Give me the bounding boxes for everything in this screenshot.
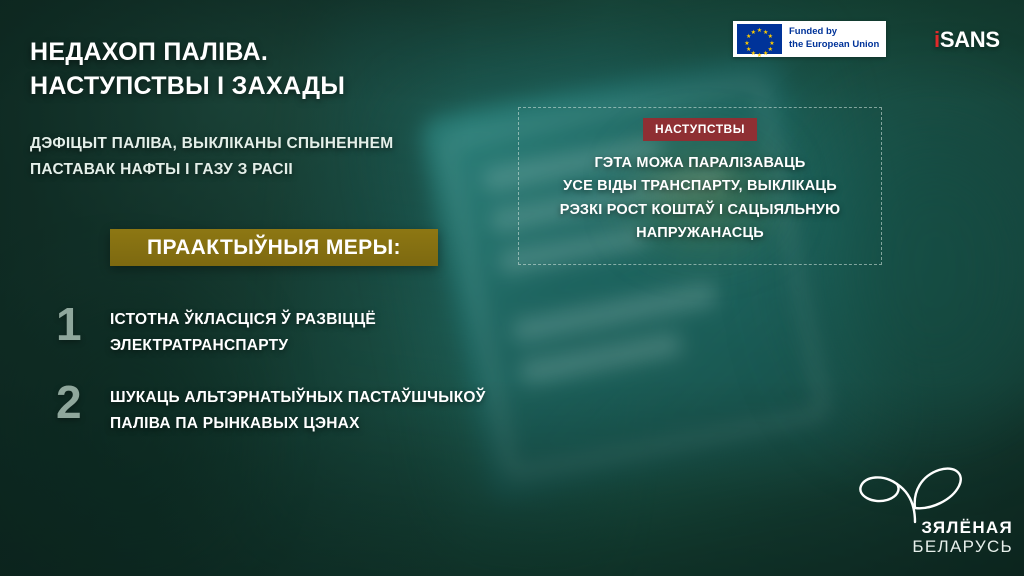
status-badge: НАСТУПСТВЫ: [643, 118, 757, 141]
list-item: 1 ІСТОТНА ЎКЛАСЦІСЯ Ў РАЗВІЦЦЁ ЭЛЕКТРАТР…: [56, 303, 526, 359]
consequences-box: НАСТУПСТВЫ ГЭТА МОЖА ПАРАЛІЗАВАЦЬ УСЕ ВІ…: [518, 107, 882, 265]
eu-star-icon: ★: [744, 41, 750, 47]
sprout-icon: [853, 462, 971, 524]
eu-star-icon: ★: [750, 30, 756, 36]
consequences-text-line-3: РЭЗКІ РОСТ КОШТАЎ І САЦЫЯЛЬНУЮ: [533, 199, 867, 222]
green-belarus-logo-text: ЗЯЛЁНАЯ БЕЛАРУСЬ: [889, 518, 1013, 556]
consequences-text-line-4: НАПРУЖАНАСЦЬ: [533, 222, 867, 245]
page-subtitle-line-1: ДЭФІЦЫТ ПАЛІВА, ВЫКЛІКАНЫ СПЫНЕННЕМ: [30, 131, 550, 157]
green-belarus-logo-line-1: ЗЯЛЁНАЯ: [889, 518, 1013, 537]
eu-funding-text: Funded by the European Union: [789, 26, 879, 51]
isans-logo: iSANS: [934, 27, 1000, 53]
list-item: 2 ШУКАЦЬ АЛЬТЭРНАТЫЎНЫХ ПАСТАЎШЧЫКОЎ ПАЛ…: [56, 381, 526, 437]
eu-star-icon: ★: [757, 53, 763, 59]
green-belarus-logo: ЗЯЛЁНАЯ БЕЛАРУСЬ: [853, 462, 1013, 558]
list-item-text-line-1: ІСТОТНА ЎКЛАСЦІСЯ Ў РАЗВІЦЦЁ: [110, 307, 376, 333]
isans-logo-name: SANS: [940, 27, 1000, 52]
eu-funding-text-line-2: the European Union: [789, 39, 879, 52]
page-subtitle: ДЭФІЦЫТ ПАЛІВА, ВЫКЛІКАНЫ СПЫНЕННЕМ ПАСТ…: [30, 131, 550, 182]
list-item-text-line-2: ПАЛІВА ПА РЫНКАВЫХ ЦЭНАХ: [110, 411, 486, 437]
list-item-text: ШУКАЦЬ АЛЬТЭРНАТЫЎНЫХ ПАСТАЎШЧЫКОЎ ПАЛІВ…: [110, 381, 486, 436]
page-title-line-2: НАСТУПСТВЫ І ЗАХАДЫ: [30, 70, 550, 104]
eu-star-icon: ★: [746, 47, 752, 53]
proactive-measures-banner: ПРААКТЫЎНЫЯ МЕРЫ:: [110, 229, 438, 266]
list-item-text-line-1: ШУКАЦЬ АЛЬТЭРНАТЫЎНЫХ ПАСТАЎШЧЫКОЎ: [110, 385, 486, 411]
page-subtitle-line-2: ПАСТАВАК НАФТЫ І ГАЗУ З РАСІІ: [30, 157, 550, 183]
consequences-text-line-2: УСЕ ВІДЫ ТРАНСПАРТУ, ВЫКЛІКАЦЬ: [533, 175, 867, 198]
measures-list: 1 ІСТОТНА ЎКЛАСЦІСЯ Ў РАЗВІЦЦЁ ЭЛЕКТРАТР…: [56, 303, 526, 459]
consequences-text-line-1: ГЭТА МОЖА ПАРАЛІЗАВАЦЬ: [533, 152, 867, 175]
consequences-text: ГЭТА МОЖА ПАРАЛІЗАВАЦЬ УСЕ ВІДЫ ТРАНСПАР…: [533, 152, 867, 246]
eu-funding-logo: ★ ★ ★ ★ ★ ★ ★ ★ ★ ★ ★ ★ Funded by the Eu…: [733, 21, 886, 57]
page-title: НЕДАХОП ПАЛІВА. НАСТУПСТВЫ І ЗАХАДЫ: [30, 36, 550, 103]
infographic-slide: НЕДАХОП ПАЛІВА. НАСТУПСТВЫ І ЗАХАДЫ ДЭФІ…: [0, 0, 1024, 576]
list-item-number: 2: [56, 381, 110, 423]
eu-star-icon: ★: [769, 41, 775, 47]
eu-star-icon: ★: [763, 51, 769, 57]
eu-star-icon: ★: [757, 28, 763, 34]
list-item-number: 1: [56, 303, 110, 345]
eu-funding-text-line-1: Funded by: [789, 26, 879, 39]
green-belarus-logo-line-2: БЕЛАРУСЬ: [889, 537, 1013, 556]
eu-flag-icon: ★ ★ ★ ★ ★ ★ ★ ★ ★ ★ ★ ★: [737, 24, 782, 54]
eu-star-icon: ★: [767, 34, 773, 40]
list-item-text-line-2: ЭЛЕКТРАТРАНСПАРТУ: [110, 333, 376, 359]
page-title-line-1: НЕДАХОП ПАЛІВА.: [30, 36, 550, 70]
proactive-measures-label: ПРААКТЫЎНЫЯ МЕРЫ:: [147, 236, 401, 260]
list-item-text: ІСТОТНА ЎКЛАСЦІСЯ Ў РАЗВІЦЦЁ ЭЛЕКТРАТРАН…: [110, 303, 376, 358]
